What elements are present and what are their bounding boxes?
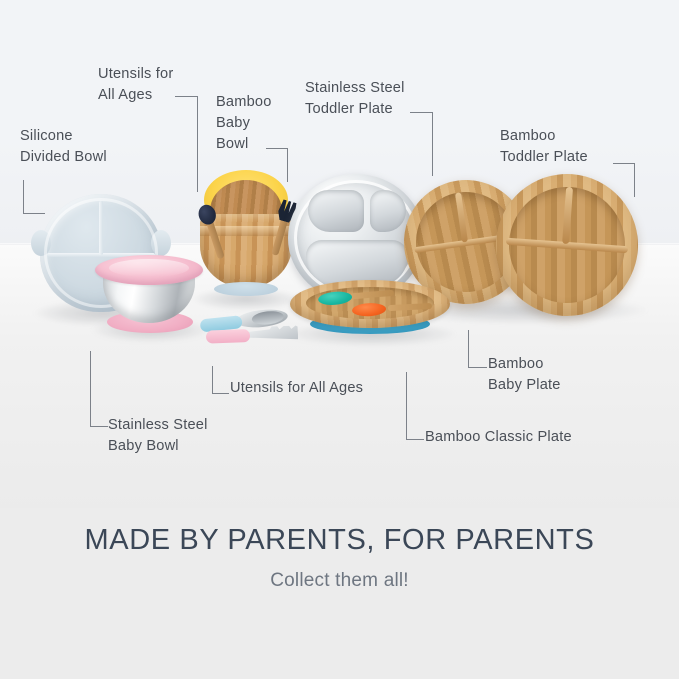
leader-stainless-steel-baby-bowl xyxy=(90,351,108,427)
leader-bamboo-baby-plate xyxy=(468,330,487,368)
label-stainless-steel-baby-bowl: Stainless Steel Baby Bowl xyxy=(108,415,208,457)
product-bamboo-baby-bowl xyxy=(196,170,296,300)
leader-stainless-steel-toddler-plate xyxy=(410,112,433,176)
label-bamboo-baby-plate: Bamboo Baby Plate xyxy=(488,354,561,396)
infographic-canvas: Silicone Divided Bowl Utensils for All A… xyxy=(0,0,679,679)
leader-bamboo-toddler-plate xyxy=(613,163,635,197)
leader-bamboo-classic-plate xyxy=(406,372,424,440)
label-bamboo-classic-plate: Bamboo Classic Plate xyxy=(425,427,572,448)
label-bamboo-toddler-plate: Bamboo Toddler Plate xyxy=(500,126,588,168)
leader-utensils-for-all-ages-bottom xyxy=(212,366,229,394)
product-stage xyxy=(0,150,679,380)
footer-headline: MADE BY PARENTS, FOR PARENTS xyxy=(0,524,679,557)
leader-bamboo-baby-bowl xyxy=(266,148,288,182)
product-stainless-steel-baby-bowl xyxy=(95,255,203,327)
steel-plate-compartment-1 xyxy=(308,190,364,232)
leader-silicone-divided-bowl xyxy=(23,180,45,214)
leader-utensils-for-all-ages-top xyxy=(175,96,198,192)
fork-pink-handle xyxy=(206,329,250,344)
silicone-bowl-divider-vertical xyxy=(99,201,103,255)
product-fork-pink-handle xyxy=(206,322,299,347)
label-silicone-divided-bowl: Silicone Divided Bowl xyxy=(20,126,107,168)
fork-steel-tines xyxy=(244,325,298,342)
steel-bowl-lid-highlight xyxy=(109,259,189,277)
label-utensils-for-all-ages-bottom: Utensils for All Ages xyxy=(230,378,363,399)
footer-subline: Collect them all! xyxy=(0,570,679,592)
label-utensils-for-all-ages-top: Utensils for All Ages xyxy=(98,64,173,106)
bamboo-baby-bowl-suction-base xyxy=(214,282,278,296)
label-stainless-steel-toddler-plate: Stainless Steel Toddler Plate xyxy=(305,78,405,120)
label-bamboo-baby-bowl: Bamboo Baby Bowl xyxy=(216,92,272,155)
